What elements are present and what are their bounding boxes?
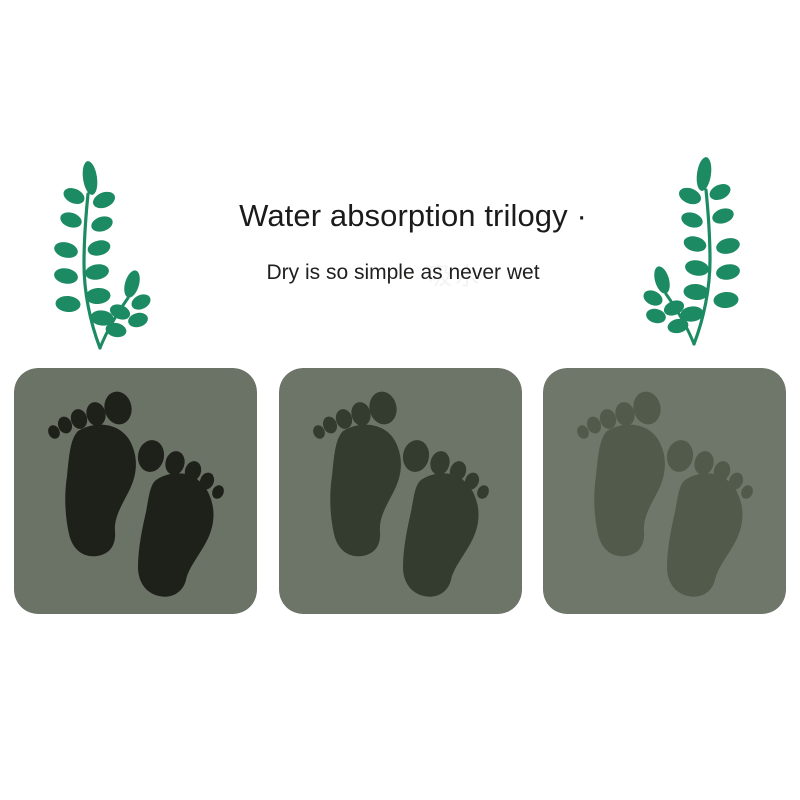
leafy-branch-right-decoration xyxy=(632,148,752,348)
footprint-tile-stage-3[interactable] xyxy=(543,368,786,614)
plant-right-leaves xyxy=(641,156,742,335)
footprint-tile-stage-1[interactable] xyxy=(14,368,257,614)
plant-left-leaves xyxy=(53,160,154,339)
footprint-tile-row xyxy=(14,368,786,614)
watermark-text: 吸水 xyxy=(428,254,618,300)
footprint-tile-stage-2[interactable] xyxy=(279,368,522,614)
leafy-branch-left-decoration xyxy=(42,152,162,352)
